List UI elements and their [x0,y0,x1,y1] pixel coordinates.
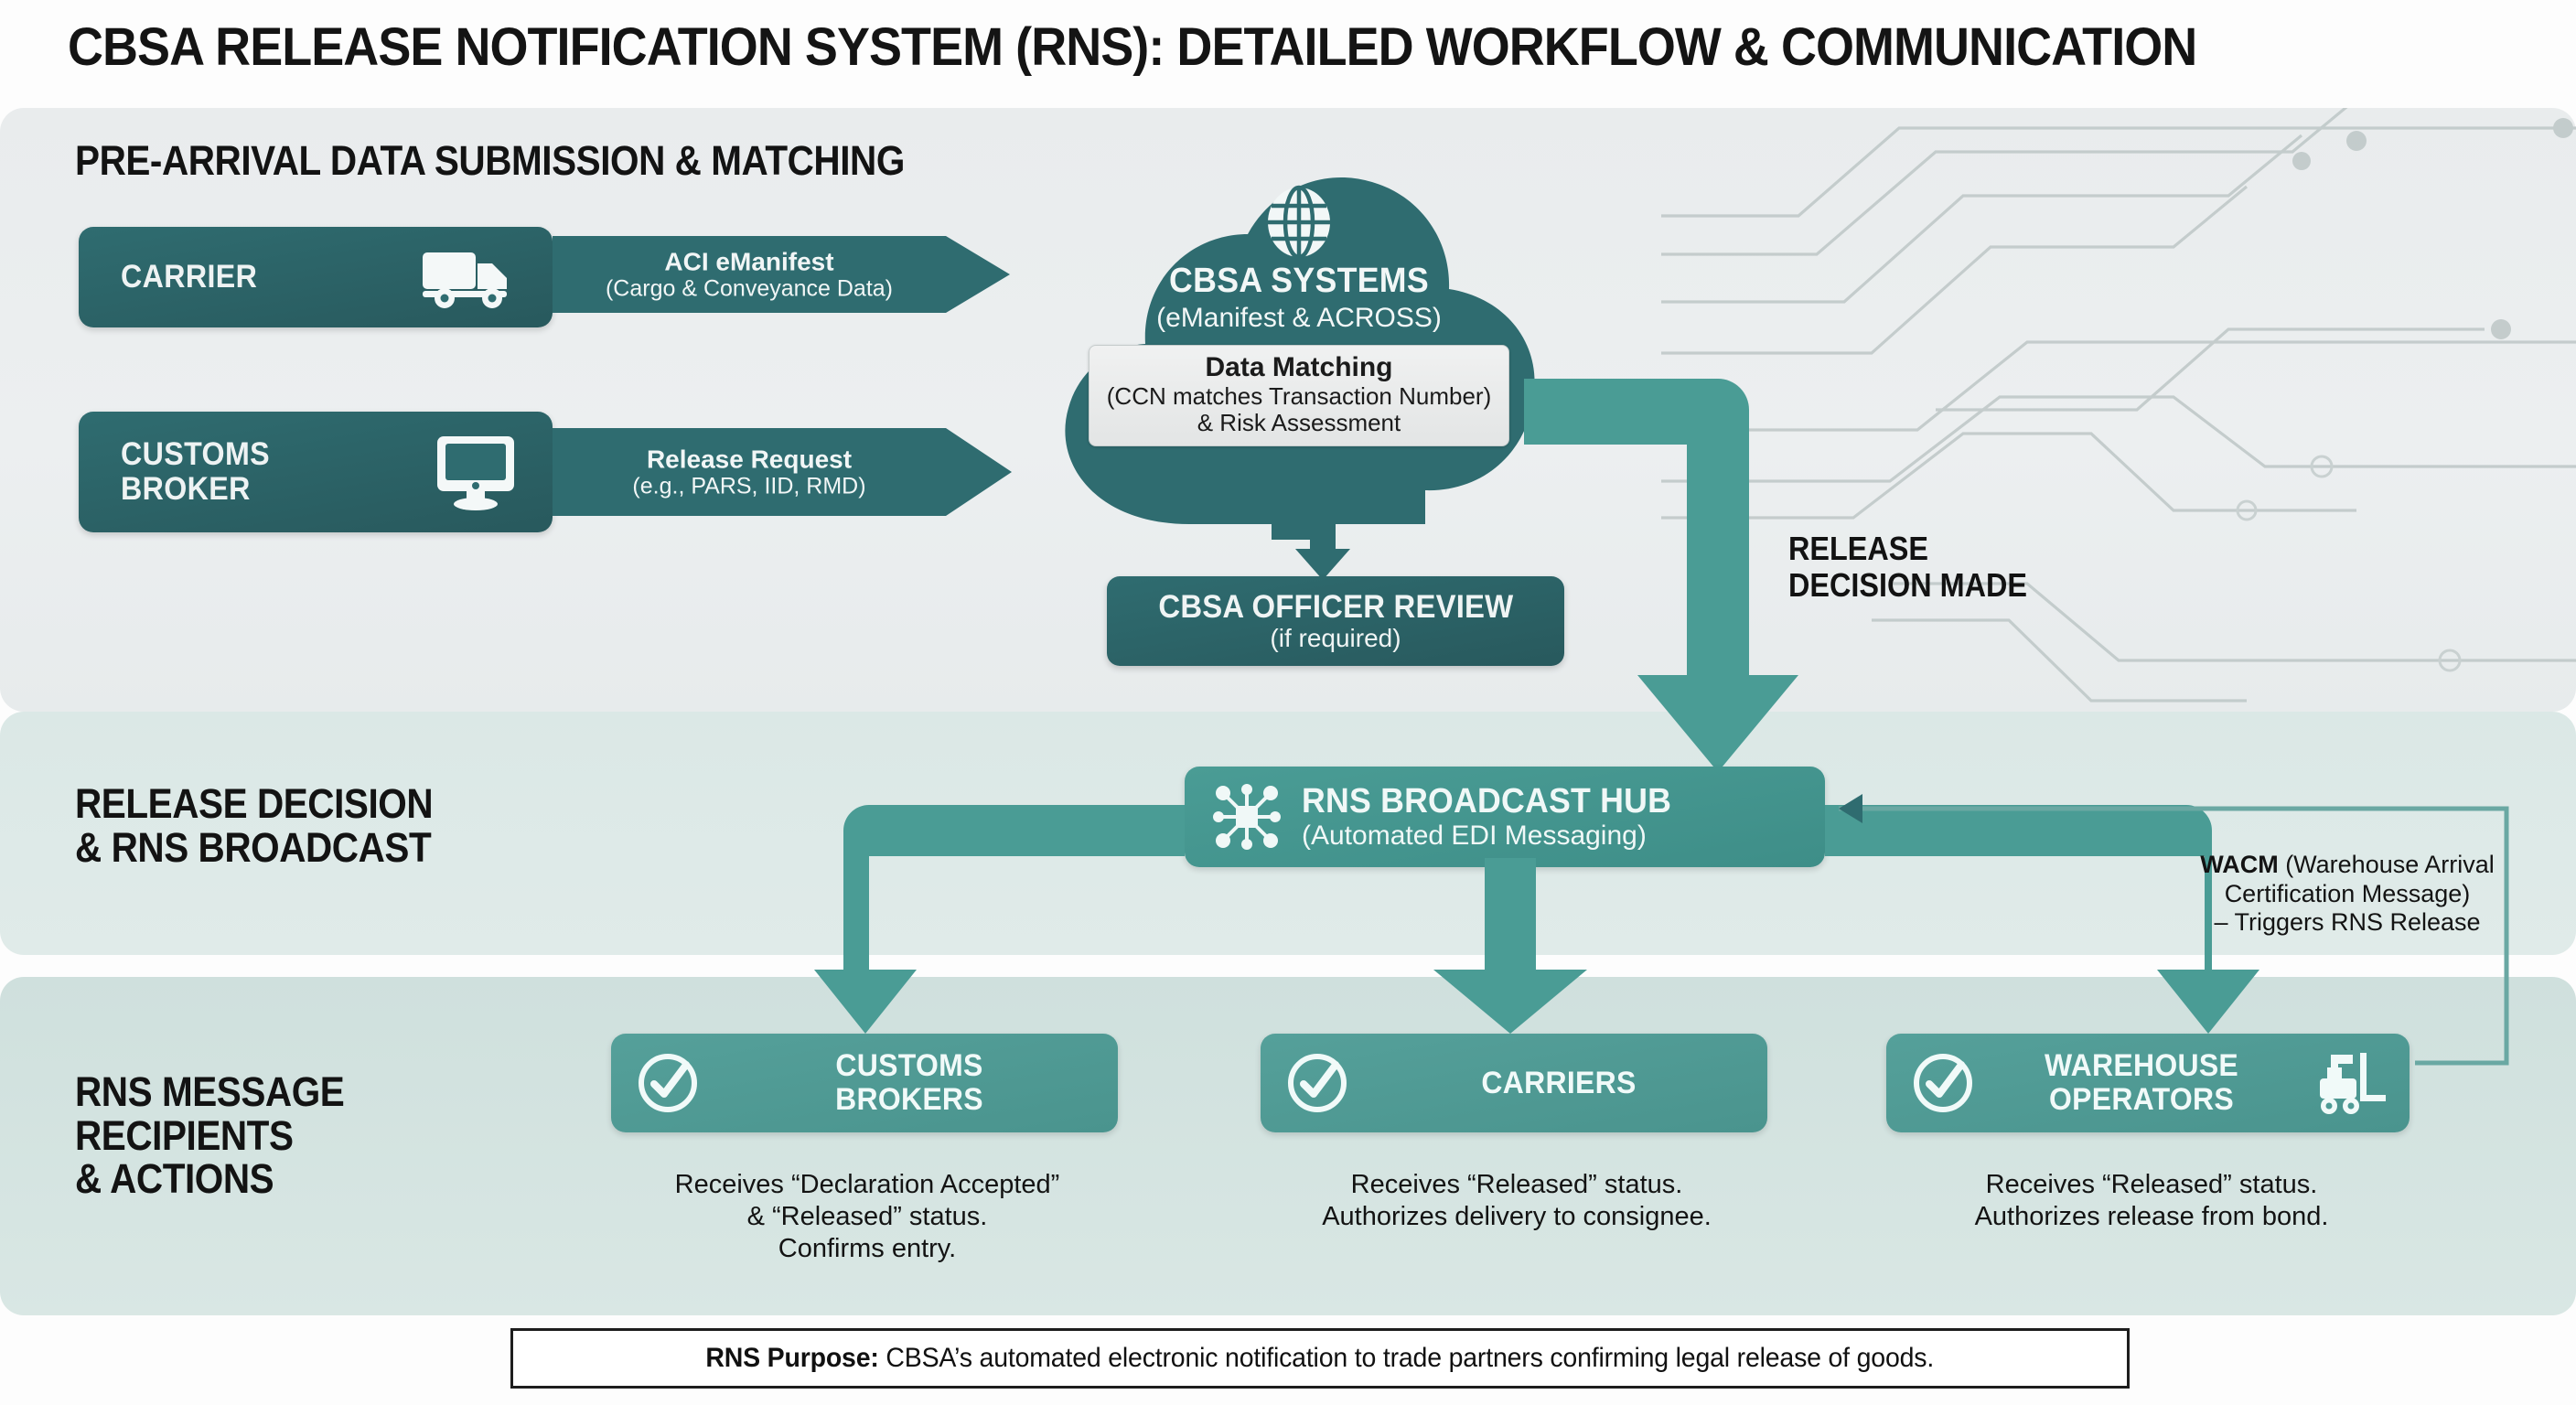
recipient-box-warehouse-operators[interactable]: WAREHOUSE OPERATORS [1886,1034,2410,1132]
band3-heading-line3: & ACTIONS [75,1157,462,1201]
cbsa-systems-cloud[interactable]: CBSA SYSTEMS (eManifest & ACROSS) Data M… [1043,163,1555,547]
data-matching-line1: (CCN matches Transaction Number) [1099,383,1499,410]
wacm-bold: WACM [2200,851,2278,878]
arrow-aci-emanifest: ACI eManifest (Cargo & Conveyance Data) [553,236,1010,313]
recipient-3-line2: OPERATORS [1986,1083,2297,1117]
band-heading-pre-arrival: PRE-ARRIVAL DATA SUBMISSION & MATCHING [75,139,905,183]
band-heading-rns-recipients: RNS MESSAGE RECIPIENTS & ACTIONS [75,1070,462,1201]
customs-broker-label-line1: CUSTOMS [121,437,270,472]
customs-broker-label: CUSTOMS BROKER [121,437,270,507]
purpose-text: CBSA’s automated electronic notification… [879,1343,1934,1373]
cbsa-officer-review-box[interactable]: CBSA OFFICER REVIEW (if required) [1107,576,1564,666]
desc-3-line2: Authorizes release from bond. [1859,1201,2444,1233]
officer-review-title: CBSA OFFICER REVIEW [1158,589,1513,626]
recipient-1-line2: BROKERS [714,1083,1106,1117]
page-title: CBSA RELEASE NOTIFICATION SYSTEM (RNS): … [68,16,2365,78]
cloud-subtitle: (eManifest & ACROSS) [1156,303,1442,334]
arrow-aci-subtitle: (Cargo & Conveyance Data) [553,276,946,302]
source-box-carrier[interactable]: CARRIER [79,227,553,327]
check-circle-icon [1284,1050,1350,1116]
recipient-desc-customs-brokers: Receives “Declaration Accepted” & “Relea… [574,1169,1160,1264]
arrow-cloud-to-officer [1295,521,1350,582]
band-heading-release-decision: RELEASE DECISION & RNS BROADCAST [75,782,536,869]
carrier-label: CARRIER [121,260,257,295]
recipient-2-line1: CARRIERS [1363,1067,1755,1100]
arrow-release-request-title: Release Request [553,445,946,473]
globe-icon [1263,185,1335,260]
band2-heading-line1: RELEASE DECISION [75,782,536,826]
check-circle-icon [635,1050,701,1116]
recipient-name-customs-brokers: CUSTOMS BROKERS [714,1049,1106,1116]
wacm-line3: – Triggers RNS Release [2155,908,2539,938]
desc-1-line1: Receives “Declaration Accepted” [574,1169,1160,1201]
arrow-release-request: Release Request (e.g., PARS, IID, RMD) [553,428,1010,516]
data-matching-box: Data Matching (CCN matches Transaction N… [1089,345,1509,446]
truck-icon [421,245,521,309]
recipient-name-warehouse-operators: WAREHOUSE OPERATORS [1986,1049,2297,1116]
data-matching-title: Data Matching [1099,352,1499,383]
band3-heading-line2: RECIPIENTS [75,1114,462,1158]
officer-review-subtitle: (if required) [1270,624,1401,653]
rns-purpose-bar: RNS Purpose: CBSA’s automated electronic… [510,1328,2130,1389]
arrow-aci-title: ACI eManifest [553,247,946,275]
arrow-release-request-subtitle: (e.g., PARS, IID, RMD) [553,474,946,499]
check-circle-icon [1910,1050,1976,1116]
recipient-name-carriers: CARRIERS [1363,1067,1755,1100]
band2-heading-line2: & RNS BROADCAST [75,826,536,870]
infographic-canvas: CBSA RELEASE NOTIFICATION SYSTEM (RNS): … [0,0,2576,1405]
desc-3-line1: Receives “Released” status. [1859,1169,2444,1201]
release-decision-made-line1: RELEASE [1788,531,2118,567]
release-decision-made-label: RELEASE DECISION MADE [1788,531,2118,605]
arrow-release-decision-to-hub [1524,373,1817,785]
cloud-title: CBSA SYSTEMS [1169,262,1429,301]
forklift-icon [2307,1049,2391,1117]
wacm-line2: Certification Message) [2155,880,2539,909]
desc-2-line1: Receives “Released” status. [1224,1169,1809,1201]
recipient-box-carriers[interactable]: CARRIERS [1261,1034,1767,1132]
data-matching-line2: & Risk Assessment [1099,410,1499,436]
purpose-label: RNS Purpose: [706,1343,879,1373]
desc-2-line2: Authorizes delivery to consignee. [1224,1201,1809,1233]
release-decision-made-line2: DECISION MADE [1788,567,2118,604]
monitor-icon [430,433,521,511]
recipient-3-line1: WAREHOUSE [1986,1049,2297,1083]
desc-1-line2: & “Released” status. [574,1201,1160,1233]
band3-heading-line1: RNS MESSAGE [75,1070,462,1114]
recipient-desc-carriers: Receives “Released” status. Authorizes d… [1224,1169,1809,1233]
recipient-desc-warehouse-operators: Receives “Released” status. Authorizes r… [1859,1169,2444,1233]
recipient-1-line1: CUSTOMS [714,1049,1106,1083]
wacm-line1: WACM (Warehouse Arrival [2155,851,2539,880]
wacm-annotation: WACM (Warehouse Arrival Certification Me… [2155,851,2539,938]
wacm-rest-line1: (Warehouse Arrival [2279,851,2495,878]
recipient-box-customs-brokers[interactable]: CUSTOMS BROKERS [611,1034,1118,1132]
desc-1-line3: Confirms entry. [574,1233,1160,1265]
customs-broker-label-line2: BROKER [121,472,270,507]
source-box-customs-broker[interactable]: CUSTOMS BROKER [79,412,553,532]
